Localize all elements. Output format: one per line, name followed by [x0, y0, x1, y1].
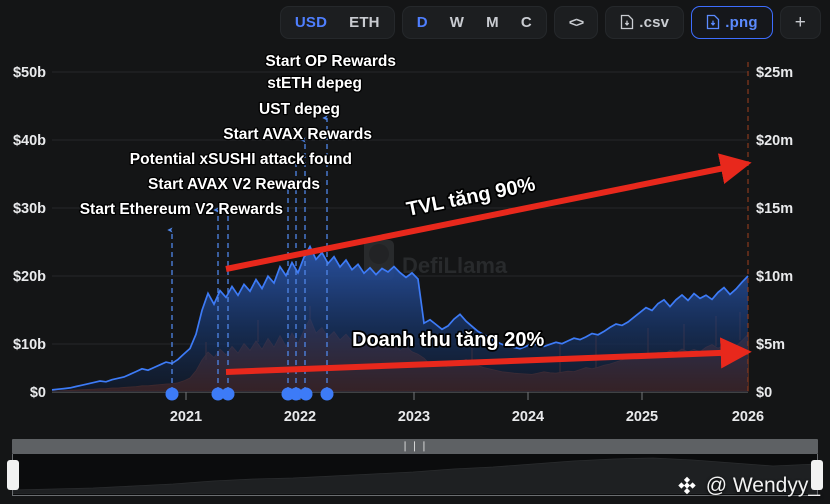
svg-text:$5m: $5m [756, 337, 785, 353]
svg-text:$25m: $25m [756, 65, 793, 81]
chart-canvas[interactable]: $50b $40b $30b $20b $10b $0 $25m $20m $1… [0, 44, 830, 432]
svg-text:$10b: $10b [13, 337, 46, 353]
svg-text:$30b: $30b [13, 201, 46, 217]
embed-code-button[interactable]: <> [558, 9, 594, 36]
interval-toggle-group: D W M C [402, 6, 547, 39]
svg-text:$10m: $10m [756, 269, 793, 285]
svg-text:2022: 2022 [284, 409, 316, 425]
file-download-icon [620, 14, 634, 30]
chart-toolbar: USD ETH D W M C <> .csv [0, 0, 830, 44]
annotation-label: Start AVAX V2 Rewards [148, 176, 320, 193]
png-label: .png [725, 14, 757, 31]
annotation-label: Start OP Rewards [265, 53, 396, 70]
author-handle: @ Wendyy_ [706, 474, 820, 498]
code-brackets-icon: <> [569, 14, 583, 30]
svg-text:$40b: $40b [13, 133, 46, 149]
interval-monthly-button[interactable]: M [475, 9, 510, 36]
event-dot [166, 388, 179, 401]
author-watermark: @ Wendyy_ [675, 474, 820, 498]
annotation-label: Start Ethereum V2 Rewards [80, 201, 283, 218]
svg-text:$0: $0 [756, 385, 772, 401]
annotation-label: stETH depeg [267, 75, 362, 92]
csv-label: .csv [639, 14, 669, 31]
watermark-label: DefiLlama [402, 253, 508, 278]
range-handle-left[interactable] [7, 460, 19, 490]
svg-text:$0: $0 [30, 385, 46, 401]
download-csv-button[interactable]: .csv [609, 9, 680, 36]
svg-text:$20m: $20m [756, 133, 793, 149]
download-png-button[interactable]: .png [695, 9, 768, 36]
png-group: .png [691, 6, 772, 39]
svg-text:2026: 2026 [732, 409, 764, 425]
interval-weekly-button[interactable]: W [439, 9, 475, 36]
currency-usd-button[interactable]: USD [284, 9, 338, 36]
event-dot [321, 388, 334, 401]
defillama-chart-app: USD ETH D W M C <> .csv [0, 0, 830, 504]
annotation-label: UST depeg [259, 101, 340, 118]
chart-plot: $50b $40b $30b $20b $10b $0 $25m $20m $1… [0, 44, 830, 432]
interval-daily-button[interactable]: D [406, 9, 439, 36]
event-dot [222, 388, 235, 401]
currency-eth-button[interactable]: ETH [338, 9, 391, 36]
interval-cumulative-button[interactable]: C [510, 9, 543, 36]
annotation-label: Start AVAX Rewards [223, 126, 372, 143]
currency-toggle-group: USD ETH [280, 6, 395, 39]
svg-text:2023: 2023 [398, 409, 430, 425]
svg-text:$20b: $20b [13, 269, 46, 285]
event-dot [300, 388, 313, 401]
add-chart-button[interactable]: + [784, 9, 817, 36]
file-download-icon [706, 14, 720, 30]
svg-text:$50b: $50b [13, 65, 46, 81]
annotation-label: Potential xSUSHI attack found [130, 151, 352, 168]
svg-text:2024: 2024 [512, 409, 544, 425]
revenue-growth-label: Doanh thu tăng 20% [352, 329, 544, 351]
plus-icon: + [795, 13, 806, 32]
csv-group: .csv [605, 6, 684, 39]
binance-diamond-icon [675, 474, 699, 498]
svg-text:$15m: $15m [756, 201, 793, 217]
range-slider-track[interactable]: ❘❘❘ [12, 439, 818, 454]
svg-text:2021: 2021 [170, 409, 202, 425]
drag-grip-icon[interactable]: ❘❘❘ [401, 442, 429, 452]
add-group: + [780, 6, 821, 39]
svg-text:2025: 2025 [626, 409, 658, 425]
embed-group: <> [554, 6, 598, 39]
